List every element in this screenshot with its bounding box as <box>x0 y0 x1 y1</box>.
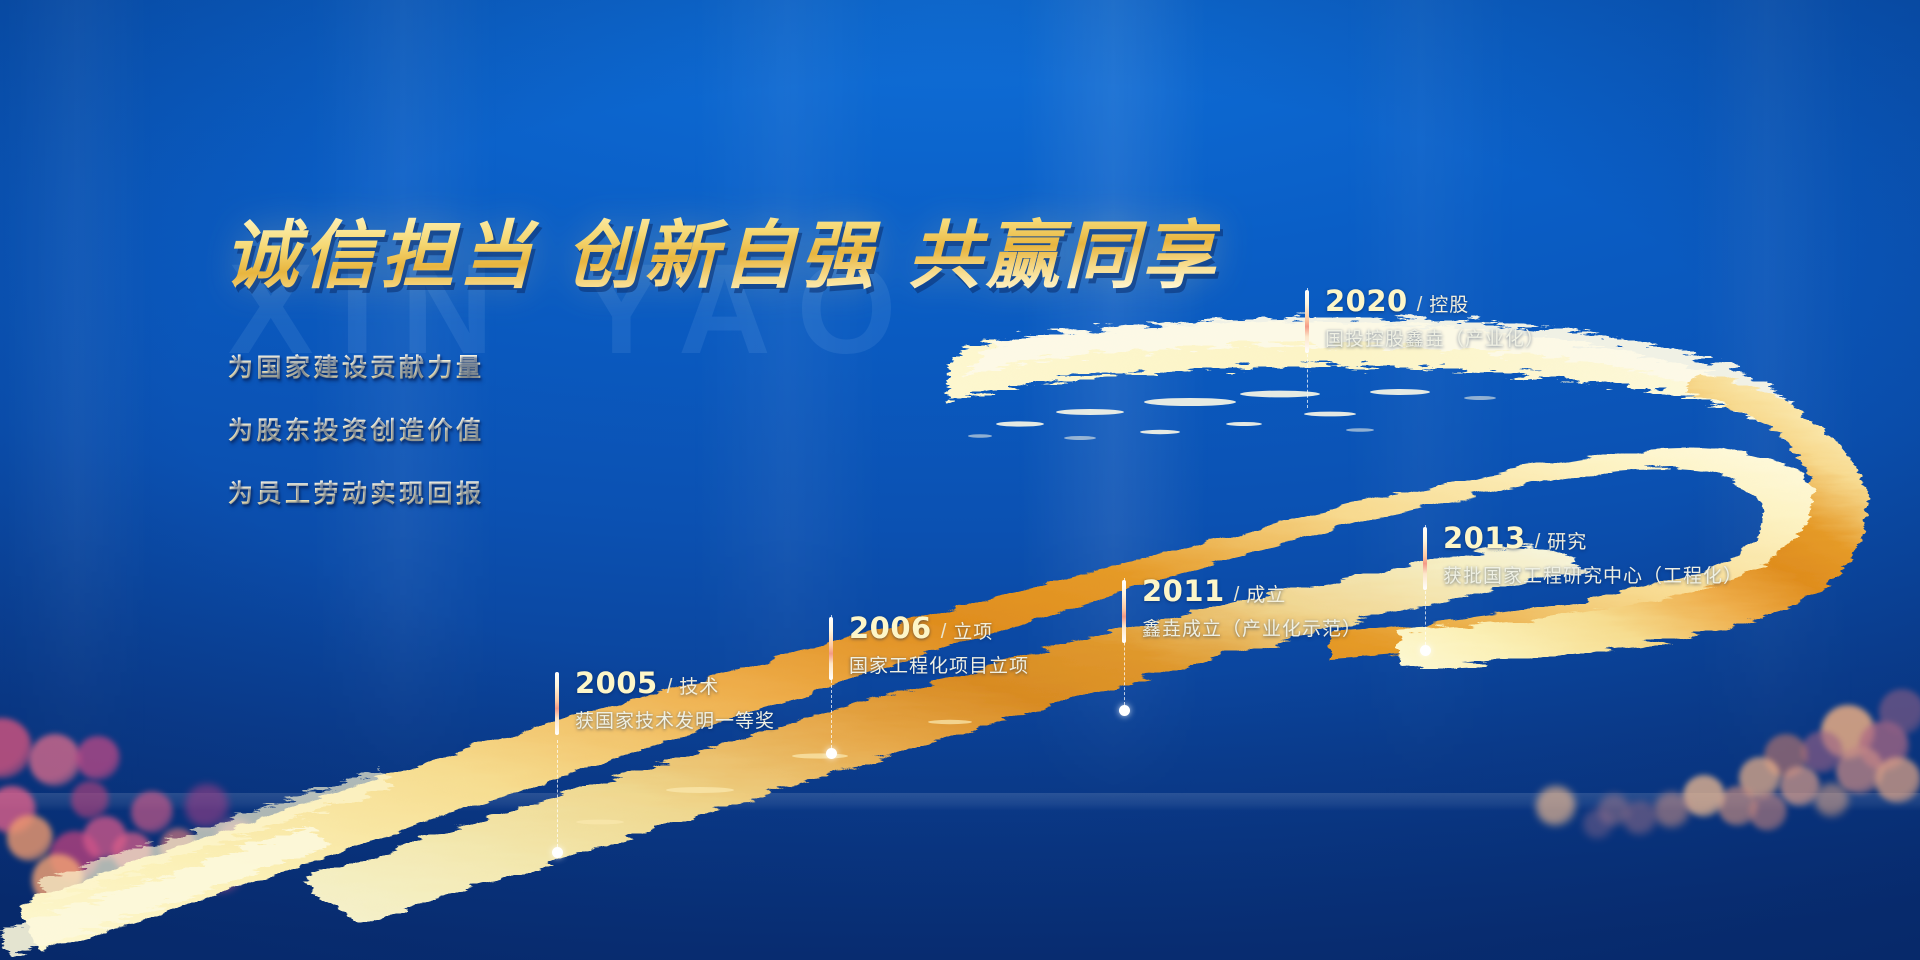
timeline-tag-2013: 研究 <box>1547 527 1587 554</box>
timeline-tag-2006: 立项 <box>953 617 993 644</box>
timeline-tag-2005: 技术 <box>679 672 719 699</box>
timeline-year-row-2011: 2011 / 成立 <box>1142 574 1286 608</box>
timeline-separator-2005: / <box>667 676 673 699</box>
bokeh-circle <box>1536 786 1576 826</box>
bokeh-circle <box>1654 792 1690 828</box>
slogan-item-1: 为国家建设贡献力量 <box>228 348 485 384</box>
slogan-list: 为国家建设贡献力量 为股东投资创造价值 为员工劳动实现回报 <box>228 348 485 537</box>
timeline-accent-bar-2011 <box>1122 580 1126 643</box>
bokeh-circle <box>76 736 120 780</box>
timeline-tag-2011: 成立 <box>1246 580 1286 607</box>
timeline-desc-2005: 获国家技术发明一等奖 <box>575 706 775 733</box>
timeline-separator-2020: / <box>1417 294 1423 317</box>
timeline-connector-2005 <box>557 740 558 852</box>
timeline-desc-2011: 鑫垚成立（产业化示范） <box>1142 614 1362 641</box>
bokeh-circle <box>7 815 53 861</box>
timeline-dot-2006 <box>826 748 837 759</box>
banner-stage: XIN YAO 诚信担当 创新自强 共赢同享 为国家建设贡献力量 为股东投资创造… <box>0 0 1920 960</box>
bokeh-circle <box>1815 783 1849 817</box>
slogan-item-3: 为员工劳动实现回报 <box>228 474 485 510</box>
slogan-item-2: 为股东投资创造价值 <box>228 411 485 447</box>
timeline-dot-2005 <box>552 847 563 858</box>
bokeh-circle <box>32 854 84 906</box>
timeline-year-row-2020: 2020 / 控股 <box>1325 284 1469 318</box>
timeline-year-row-2006: 2006 / 立项 <box>849 611 993 645</box>
timeline-accent-bar-2020 <box>1305 290 1309 353</box>
timeline-tag-2020: 控股 <box>1429 290 1469 317</box>
timeline-year-2020: 2020 <box>1325 284 1408 318</box>
timeline-year-2006: 2006 <box>849 611 932 645</box>
timeline-year-2005: 2005 <box>575 666 658 700</box>
bokeh-circle <box>1780 766 1820 806</box>
bokeh-circle <box>185 784 229 828</box>
timeline-accent-bar-2005 <box>555 672 559 735</box>
bokeh-circle <box>1583 809 1613 839</box>
timeline-year-2013: 2013 <box>1443 521 1526 555</box>
bokeh-circle <box>272 824 308 860</box>
timeline-accent-bar-2006 <box>829 617 833 680</box>
bokeh-circle <box>29 734 81 786</box>
timeline-desc-2020: 国投控股鑫垚（产业化） <box>1325 324 1545 351</box>
timeline-desc-2006: 国家工程化项目立项 <box>849 651 1029 678</box>
page-title: 诚信担当 创新自强 共赢同享 <box>224 196 1220 303</box>
bokeh-circle <box>108 872 144 908</box>
bokeh-circle <box>71 781 109 819</box>
bokeh-circle <box>202 852 242 892</box>
timeline-dot-2013 <box>1420 645 1431 656</box>
bokeh-circle <box>1875 757 1920 803</box>
timeline-dot-2011 <box>1119 705 1130 716</box>
timeline-separator-2013: / <box>1535 531 1541 554</box>
timeline-year-row-2005: 2005 / 技术 <box>575 666 719 700</box>
timeline-year-2011: 2011 <box>1142 574 1225 608</box>
timeline-year-row-2013: 2013 / 研究 <box>1443 521 1587 555</box>
timeline-separator-2006: / <box>941 621 947 644</box>
bokeh-circle <box>1879 689 1920 735</box>
bokeh-circle <box>1749 793 1787 831</box>
timeline-desc-2013: 获批国家工程研究中心（工程化） <box>1443 561 1743 588</box>
bokeh-circle <box>112 832 152 872</box>
bokeh-circle <box>160 828 196 864</box>
timeline-separator-2011: / <box>1234 584 1240 607</box>
bokeh-circle <box>131 791 173 833</box>
timeline-accent-bar-2013 <box>1423 527 1427 590</box>
